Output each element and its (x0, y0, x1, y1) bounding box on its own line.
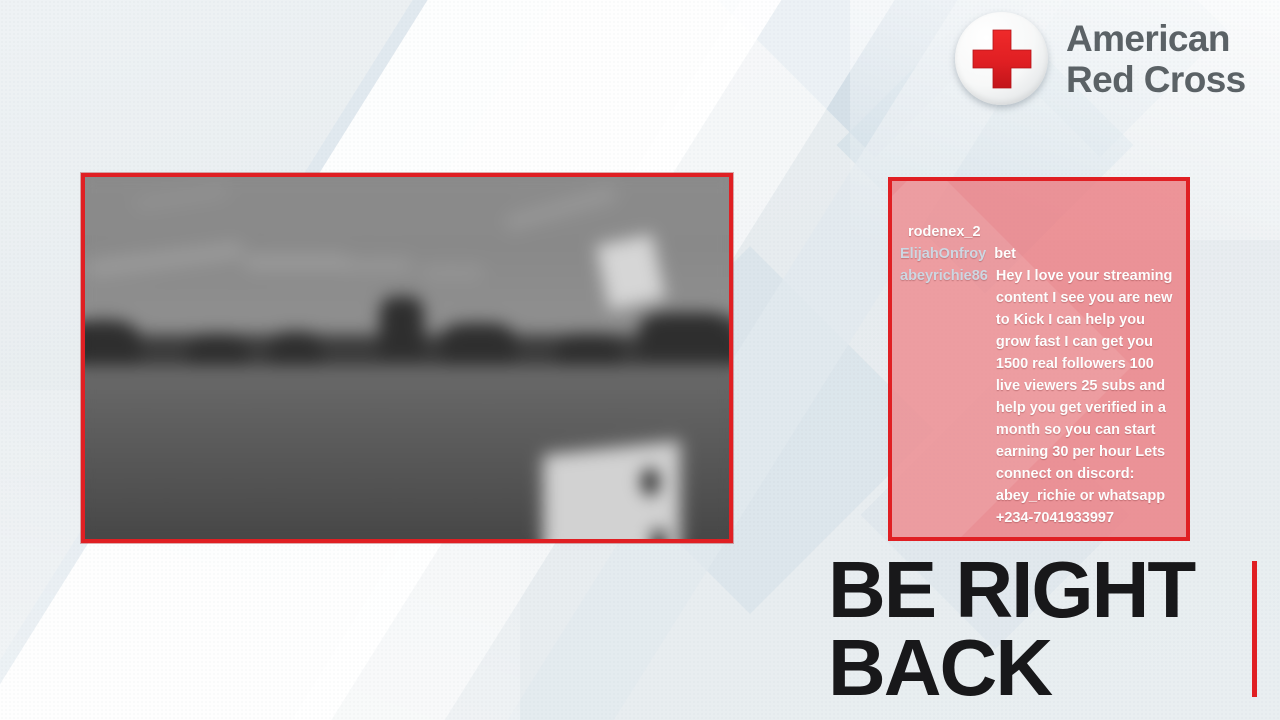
chat-message-list[interactable]: rodenex_2ElijahOnfroybetabeyrichie86Hey … (892, 232, 1186, 537)
chat-message[interactable]: abeyrichie86Hey I love your streaming co… (900, 265, 1174, 529)
chat-message-text: bet (994, 243, 1174, 265)
game-blur-overlay (85, 177, 729, 539)
chat-username[interactable]: ElijahOnfroy (900, 243, 986, 265)
brb-accent-bar (1252, 561, 1257, 697)
stream-overlay-stage: American Red Cross (0, 0, 1280, 720)
red-cross-icon (955, 12, 1048, 105)
brb-heading-line1: BE RIGHT (828, 551, 1194, 629)
chat-message[interactable]: rodenex_2 (900, 221, 1174, 243)
chat-username[interactable]: abeyrichie86 (900, 265, 988, 287)
brb-heading: BE RIGHT BACK (828, 551, 1194, 707)
game-capture-frame[interactable] (81, 173, 733, 543)
chat-message[interactable]: ElijahOnfroybet (900, 243, 1174, 265)
brand-name-line1: American (1066, 20, 1246, 57)
brb-heading-line2: BACK (828, 629, 1194, 707)
brand-name-line2: Red Cross (1066, 61, 1246, 98)
chat-overlay-panel[interactable]: rodenex_2ElijahOnfroybetabeyrichie86Hey … (888, 177, 1190, 541)
chat-message-text: rodenex_2 (908, 221, 1174, 243)
brand-name: American Red Cross (1066, 20, 1246, 98)
chat-message-text: Hey I love your streaming content I see … (996, 265, 1174, 529)
brand-logo-lockup: American Red Cross (955, 12, 1246, 105)
